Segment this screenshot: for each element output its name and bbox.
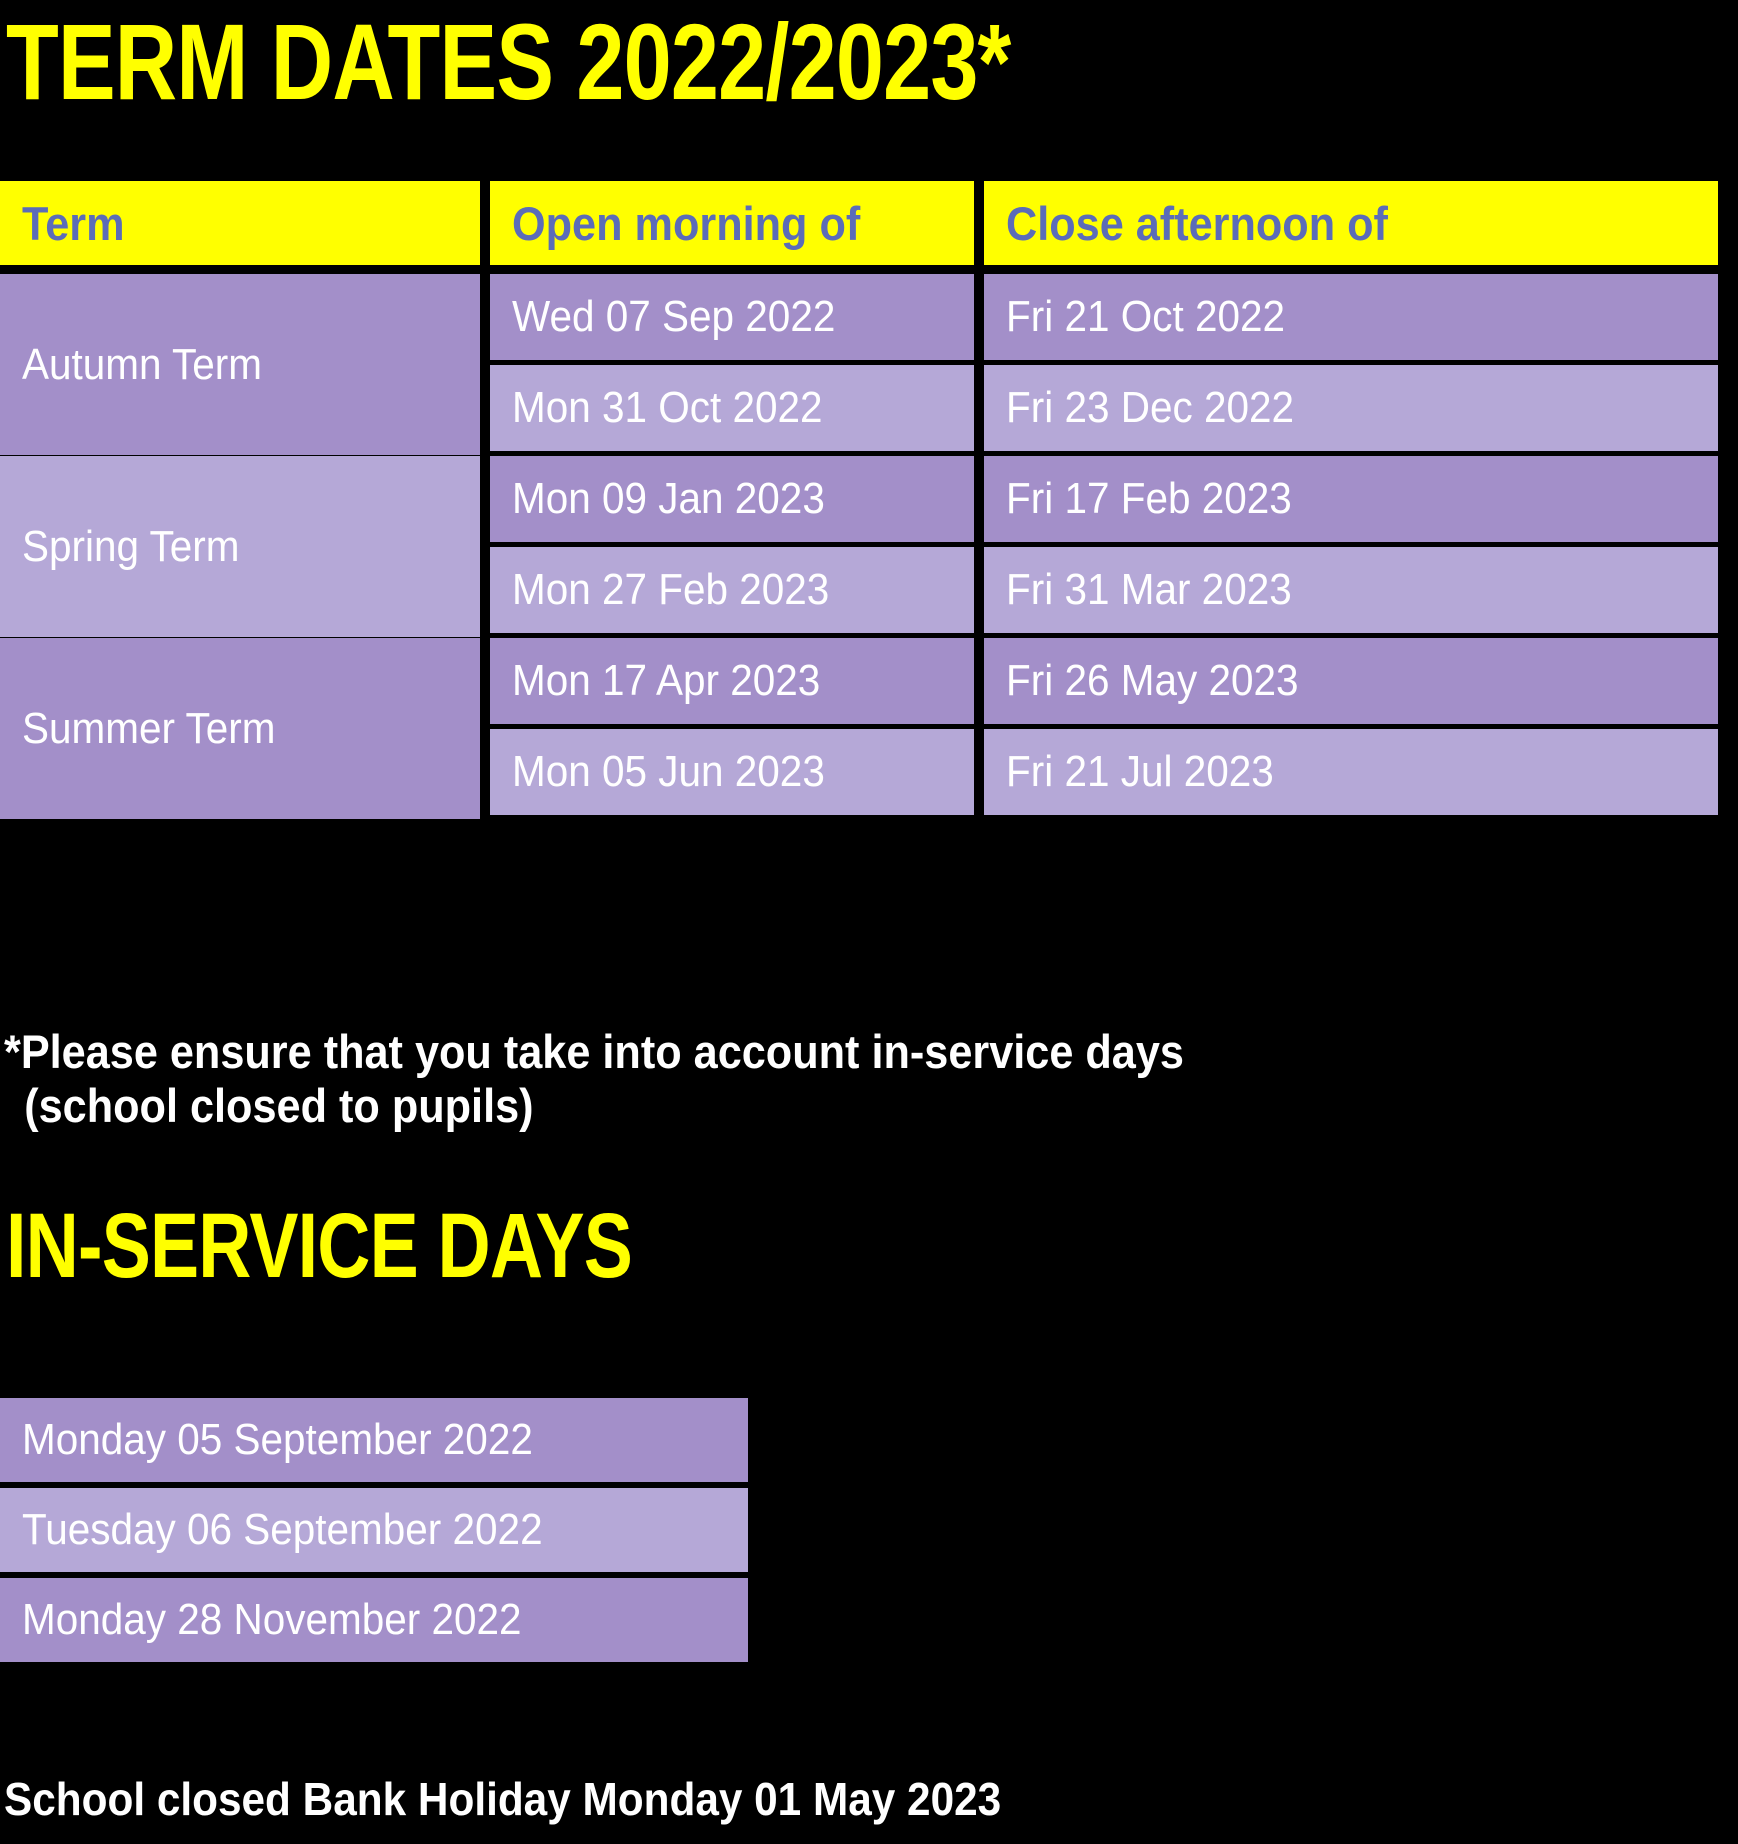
footnote-line-2: (school closed to pupils) [4,1079,1292,1133]
column-header-close: Close afternoon of [984,181,1718,265]
cell-close-autumn-1: Fri 21 Oct 2022 [984,274,1718,360]
cell-open-autumn-1-label: Wed 07 Sep 2022 [512,295,835,339]
cell-open-autumn-1: Wed 07 Sep 2022 [490,274,974,360]
footnote-line-1: *Please ensure that you take into accoun… [4,1025,1184,1078]
cell-open-summer-2: Mon 05 Jun 2023 [490,729,974,815]
cell-open-autumn-2: Mon 31 Oct 2022 [490,365,974,451]
column-header-term-label: Term [22,200,125,247]
cell-close-spring-1: Fri 17 Feb 2023 [984,456,1718,542]
bank-holiday-note: School closed Bank Holiday Monday 01 May… [4,1776,1001,1822]
table-row-term-summer: Summer Term [0,638,480,819]
cell-close-summer-1: Fri 26 May 2023 [984,638,1718,724]
cell-open-spring-2: Mon 27 Feb 2023 [490,547,974,633]
inservice-day-2-label: Tuesday 06 September 2022 [22,1508,543,1552]
inservice-day-1-label: Monday 05 September 2022 [22,1418,533,1462]
list-item: Tuesday 06 September 2022 [0,1488,748,1572]
table-header-row: Term Open morning of Close afternoon of [0,181,1718,265]
column-header-open-label: Open morning of [512,200,860,247]
inservice-days-list: Monday 05 September 2022 Tuesday 06 Sept… [0,1398,748,1668]
term-name-autumn: Autumn Term [22,343,262,387]
cell-close-summer-2-label: Fri 21 Jul 2023 [1006,750,1274,794]
term-dates-table: Term Open morning of Close afternoon of … [0,181,1718,813]
page-title: TERM DATES 2022/2023* [6,8,1010,116]
cell-close-autumn-1-label: Fri 21 Oct 2022 [1006,295,1285,339]
cell-close-autumn-2: Fri 23 Dec 2022 [984,365,1718,451]
cell-open-summer-1-label: Mon 17 Apr 2023 [512,659,820,703]
column-header-close-label: Close afternoon of [1006,200,1388,247]
list-item: Monday 28 November 2022 [0,1578,748,1662]
footnote: *Please ensure that you take into accoun… [4,1025,1292,1133]
cell-open-spring-1: Mon 09 Jan 2023 [490,456,974,542]
cell-open-autumn-2-label: Mon 31 Oct 2022 [512,386,823,430]
column-header-term: Term [0,181,480,265]
cell-close-spring-2-label: Fri 31 Mar 2023 [1006,568,1292,612]
cell-open-summer-2-label: Mon 05 Jun 2023 [512,750,825,794]
inservice-days-heading: IN-SERVICE DAYS [6,1200,632,1292]
inservice-day-3-label: Monday 28 November 2022 [22,1598,522,1642]
cell-close-autumn-2-label: Fri 23 Dec 2022 [1006,386,1294,430]
cell-open-summer-1: Mon 17 Apr 2023 [490,638,974,724]
term-name-summer: Summer Term [22,707,275,751]
cell-open-spring-2-label: Mon 27 Feb 2023 [512,568,829,612]
column-header-open: Open morning of [490,181,974,265]
table-row-term-spring: Spring Term [0,456,480,637]
cell-close-spring-2: Fri 31 Mar 2023 [984,547,1718,633]
cell-close-summer-2: Fri 21 Jul 2023 [984,729,1718,815]
cell-open-spring-1-label: Mon 09 Jan 2023 [512,477,825,521]
term-name-spring: Spring Term [22,525,239,569]
table-row-term-autumn: Autumn Term [0,274,480,455]
cell-close-summer-1-label: Fri 26 May 2023 [1006,659,1299,703]
list-item: Monday 05 September 2022 [0,1398,748,1482]
cell-close-spring-1-label: Fri 17 Feb 2023 [1006,477,1292,521]
